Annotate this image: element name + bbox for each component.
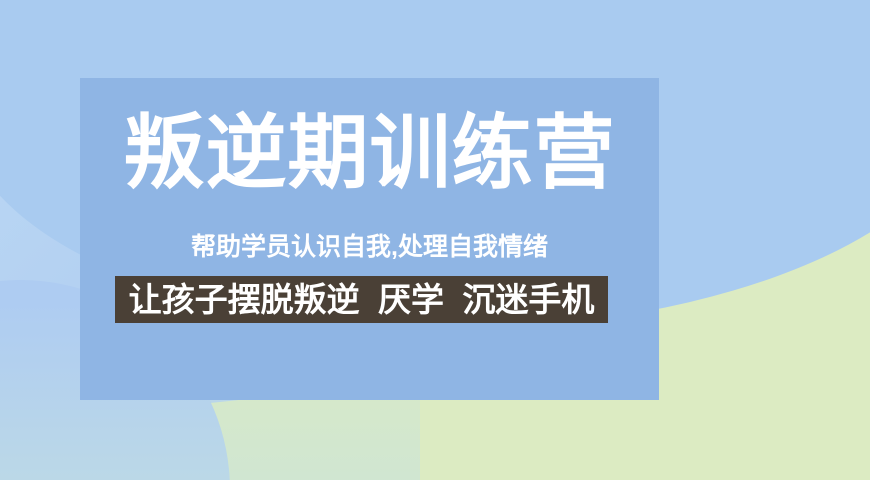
page-title: 叛逆期训练营 bbox=[80, 114, 659, 195]
promo-poster: 叛逆期训练营 帮助学员认识自我,处理自我情绪 让孩子摆脱叛逆 厌学 沉迷手机 bbox=[0, 0, 870, 480]
highlight-banner: 让孩子摆脱叛逆 厌学 沉迷手机 bbox=[115, 276, 608, 323]
page-subtitle: 帮助学员认识自我,处理自我情绪 bbox=[80, 235, 659, 260]
content-panel: 叛逆期训练营 帮助学员认识自我,处理自我情绪 让孩子摆脱叛逆 厌学 沉迷手机 bbox=[80, 78, 659, 400]
highlight-banner-text: 让孩子摆脱叛逆 厌学 沉迷手机 bbox=[129, 283, 595, 316]
